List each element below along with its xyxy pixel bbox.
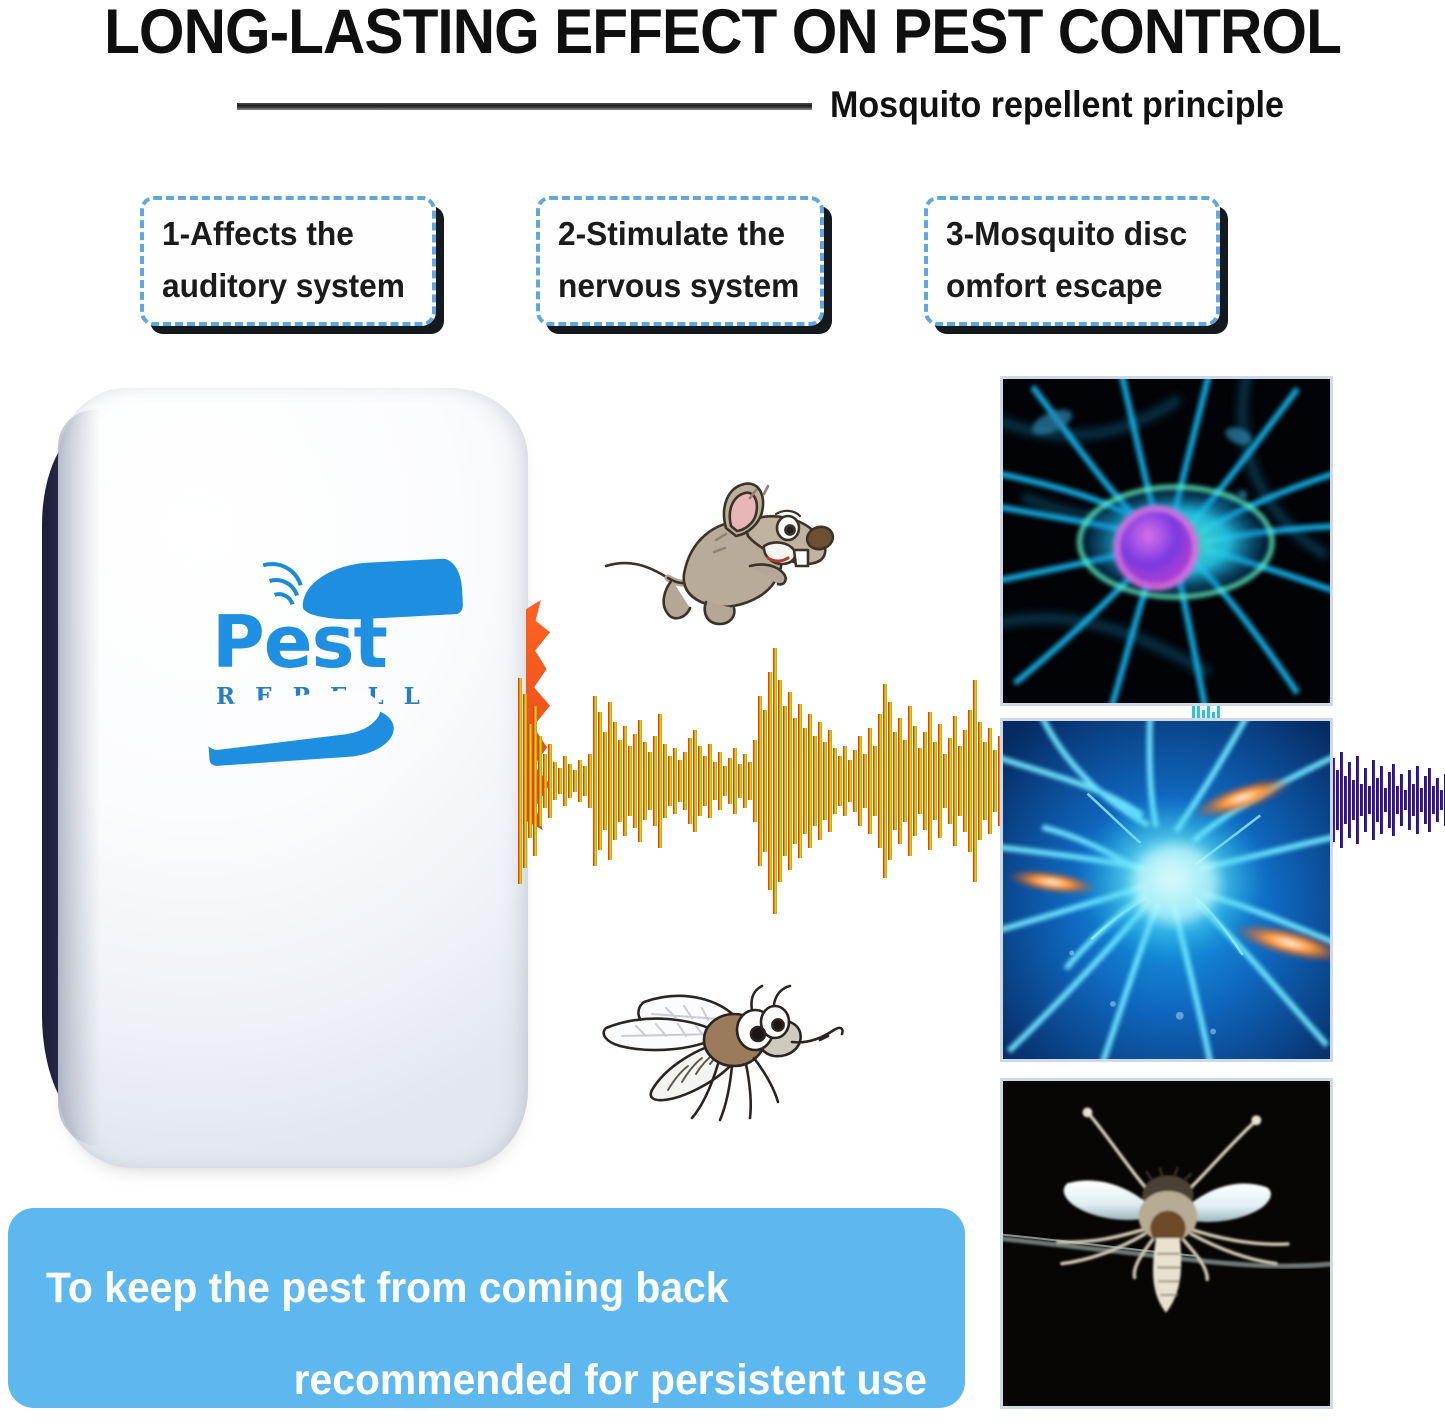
step-3-line-1: 3-Mosquito disc: [946, 208, 1194, 260]
mosquito-photo: [1000, 1078, 1333, 1409]
step-1-line-1: 1-Affects the: [162, 208, 410, 260]
pest-repeller-device: Pest R E P E L L E R: [40, 388, 540, 1178]
step-1-line-2: auditory system: [162, 260, 410, 312]
logo-swoosh-bottom-icon: [206, 704, 395, 767]
step-2-line-2: nervous system: [558, 260, 798, 312]
page-subtitle: Mosquito repellent principle: [830, 82, 1327, 130]
cartoon-mouse-illustration: [598, 462, 848, 662]
step-2-line-1: 2-Stimulate the: [558, 208, 798, 260]
step-box-auditory: 1-Affects the auditory system: [140, 196, 436, 326]
ultrasonic-soundwave-rainbow: [516, 636, 1016, 926]
logo-wordmark: Pest: [212, 602, 452, 682]
step-box-escape: 3-Mosquito disc omfort escape: [924, 196, 1220, 326]
banner-line-1: To keep the pest from coming back: [46, 1242, 883, 1334]
bottom-message-banner: To keep the pest from coming back recomm…: [8, 1208, 965, 1408]
pest-repeller-logo: Pest R E P E L L E R: [212, 560, 452, 760]
step-3-line-2: omfort escape: [946, 260, 1194, 312]
page-title: LONG-LASTING EFFECT ON PEST CONTROL: [51, 0, 1395, 68]
neuron-photo-1: [1000, 376, 1333, 706]
title-divider-rule: [237, 103, 812, 110]
banner-line-2: recommended for persistent use: [90, 1334, 927, 1426]
ultrasonic-soundwave-purple: [1330, 740, 1445, 860]
device-front-shell: [58, 388, 528, 1168]
step-box-nervous: 2-Stimulate the nervous system: [536, 196, 824, 326]
cartoon-mosquito-illustration: [592, 968, 852, 1128]
neuron-photo-2: [1000, 718, 1333, 1062]
